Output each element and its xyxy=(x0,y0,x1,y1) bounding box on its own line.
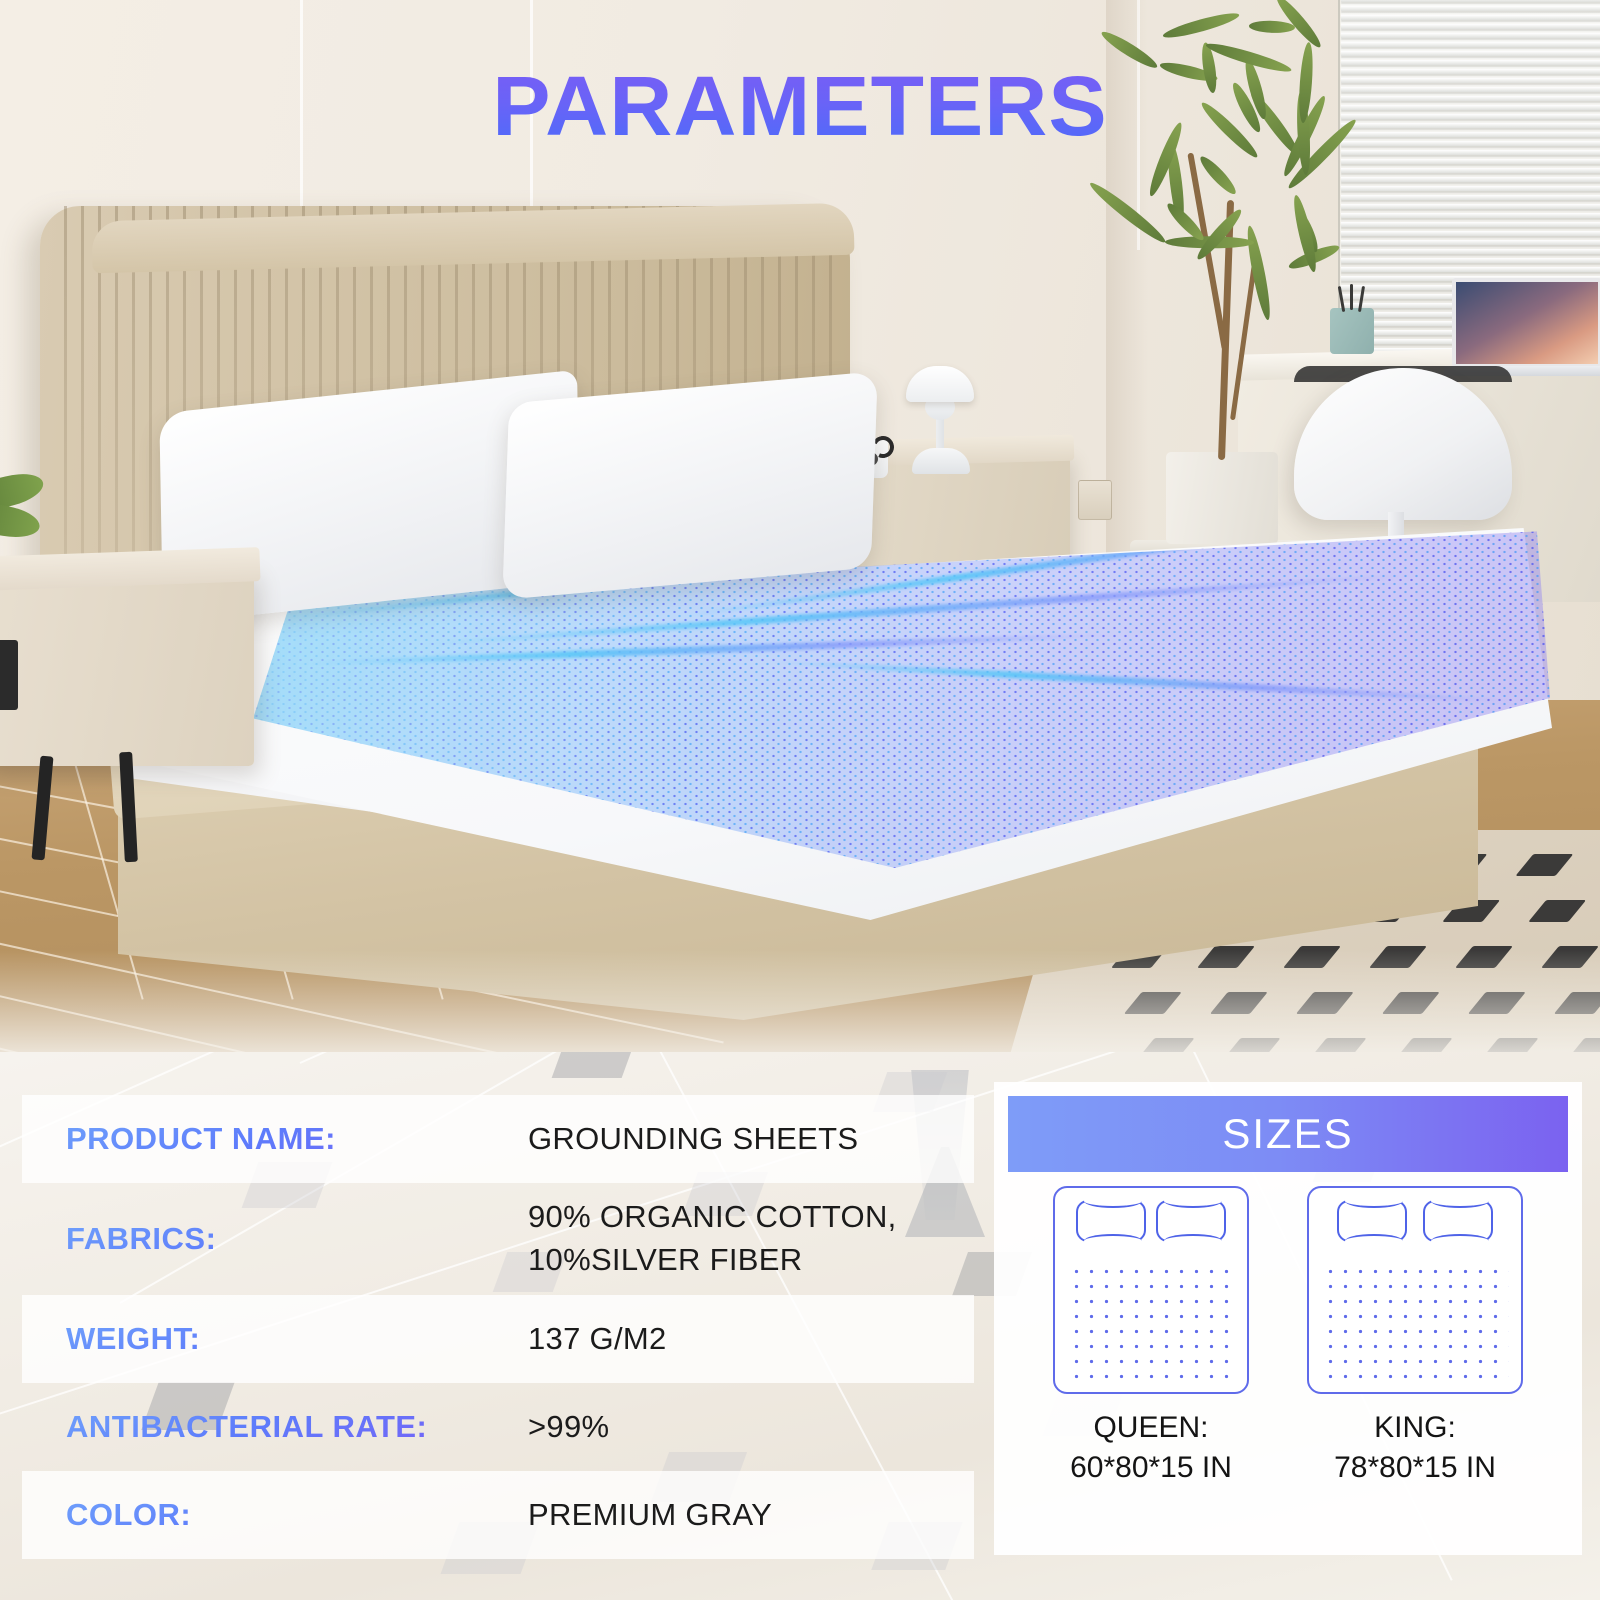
sizes-title: SIZES xyxy=(1222,1110,1353,1158)
spec-row: ANTIBACTERIAL RATE:>99% xyxy=(22,1383,974,1471)
pillow-icon xyxy=(1423,1200,1493,1242)
bed-size-caption: QUEEN:60*80*15 IN xyxy=(1070,1408,1232,1488)
page-title: PARAMETERS xyxy=(0,58,1600,155)
wall-outlet xyxy=(1078,480,1112,520)
bed-pillows xyxy=(1055,1200,1247,1242)
blind-slat xyxy=(1341,213,1600,218)
bed-size-name: KING: xyxy=(1334,1408,1496,1448)
tile-accent-patch xyxy=(552,1052,639,1078)
bed-size-caption: KING:78*80*15 IN xyxy=(1334,1408,1496,1488)
spec-value: 137 G/M2 xyxy=(528,1318,667,1361)
blind-slat xyxy=(1341,240,1600,245)
pillow-right xyxy=(502,371,877,600)
conductive-dot-grid xyxy=(1067,1262,1235,1384)
blind-slat xyxy=(1341,195,1600,200)
bed-size-diagrams: QUEEN:60*80*15 INKING:78*80*15 IN xyxy=(994,1186,1582,1488)
blind-slat xyxy=(1341,24,1600,29)
pencil xyxy=(1350,284,1353,310)
blind-slat xyxy=(1341,258,1600,263)
spec-row: FABRICS:90% ORGANIC COTTON, 10%SILVER FI… xyxy=(22,1183,974,1295)
spec-label: FABRICS: xyxy=(66,1221,528,1257)
bed-size-dimensions: 60*80*15 IN xyxy=(1070,1448,1232,1488)
tile-grout-line xyxy=(300,1052,1123,1064)
blind-slat xyxy=(1341,42,1600,47)
bed-diagram-icon xyxy=(1307,1186,1523,1394)
nightstand-left xyxy=(0,566,254,766)
blind-slat xyxy=(1341,222,1600,227)
spec-value: GROUNDING SHEETS xyxy=(528,1118,858,1161)
sizes-panel: SIZES QUEEN:60*80*15 INKING:78*80*15 IN xyxy=(994,1082,1582,1555)
nightstand-handle xyxy=(0,640,18,710)
pillow-icon xyxy=(1076,1200,1146,1242)
blind-slat xyxy=(1341,15,1600,20)
pillow-icon xyxy=(1337,1200,1407,1242)
spec-row: COLOR:PREMIUM GRAY xyxy=(22,1471,974,1559)
blind-slat xyxy=(1341,159,1600,164)
bed-size-dimensions: 78*80*15 IN xyxy=(1334,1448,1496,1488)
spec-label: WEIGHT: xyxy=(66,1321,528,1357)
spec-value: >99% xyxy=(528,1406,609,1449)
product-hero-photo xyxy=(0,0,1600,1056)
blind-slat xyxy=(1341,267,1600,272)
blind-slat xyxy=(1341,51,1600,56)
blind-slat xyxy=(1341,168,1600,173)
plant-pot xyxy=(1166,452,1278,544)
blind-slat xyxy=(1341,231,1600,236)
bed-pillows xyxy=(1309,1200,1521,1242)
blind-slat xyxy=(1341,204,1600,209)
specification-table: PRODUCT NAME:GROUNDING SHEETSFABRICS:90%… xyxy=(22,1095,974,1559)
spec-label: PRODUCT NAME: xyxy=(66,1121,528,1157)
bed-size-option: QUEEN:60*80*15 IN xyxy=(1053,1186,1249,1488)
blind-slat xyxy=(1341,0,1600,2)
blind-slat xyxy=(1341,177,1600,182)
spec-label: ANTIBACTERIAL RATE: xyxy=(66,1409,528,1445)
pillow-icon xyxy=(1156,1200,1226,1242)
bed-diagram-icon xyxy=(1053,1186,1249,1394)
conductive-dot-grid xyxy=(1321,1262,1509,1384)
spec-row: WEIGHT:137 G/M2 xyxy=(22,1295,974,1383)
laptop-screen xyxy=(1452,278,1600,368)
pencil-cup xyxy=(1330,308,1374,354)
blind-slat xyxy=(1341,6,1600,11)
spec-value: PREMIUM GRAY xyxy=(528,1494,772,1537)
bed-size-name: QUEEN: xyxy=(1070,1408,1232,1448)
rug-diamond xyxy=(1515,854,1573,876)
spec-label: COLOR: xyxy=(66,1497,528,1533)
bed-size-option: KING:78*80*15 IN xyxy=(1307,1186,1523,1488)
rug-diamond xyxy=(1528,900,1586,922)
blind-slat xyxy=(1341,249,1600,254)
spec-value: 90% ORGANIC COTTON, 10%SILVER FIBER xyxy=(528,1196,897,1282)
scene-bottom-fade xyxy=(0,950,1600,1056)
sizes-header: SIZES xyxy=(1008,1096,1568,1172)
lamp-base xyxy=(912,448,970,474)
blind-slat xyxy=(1341,186,1600,191)
blind-slat xyxy=(1341,33,1600,38)
spec-row: PRODUCT NAME:GROUNDING SHEETS xyxy=(22,1095,974,1183)
